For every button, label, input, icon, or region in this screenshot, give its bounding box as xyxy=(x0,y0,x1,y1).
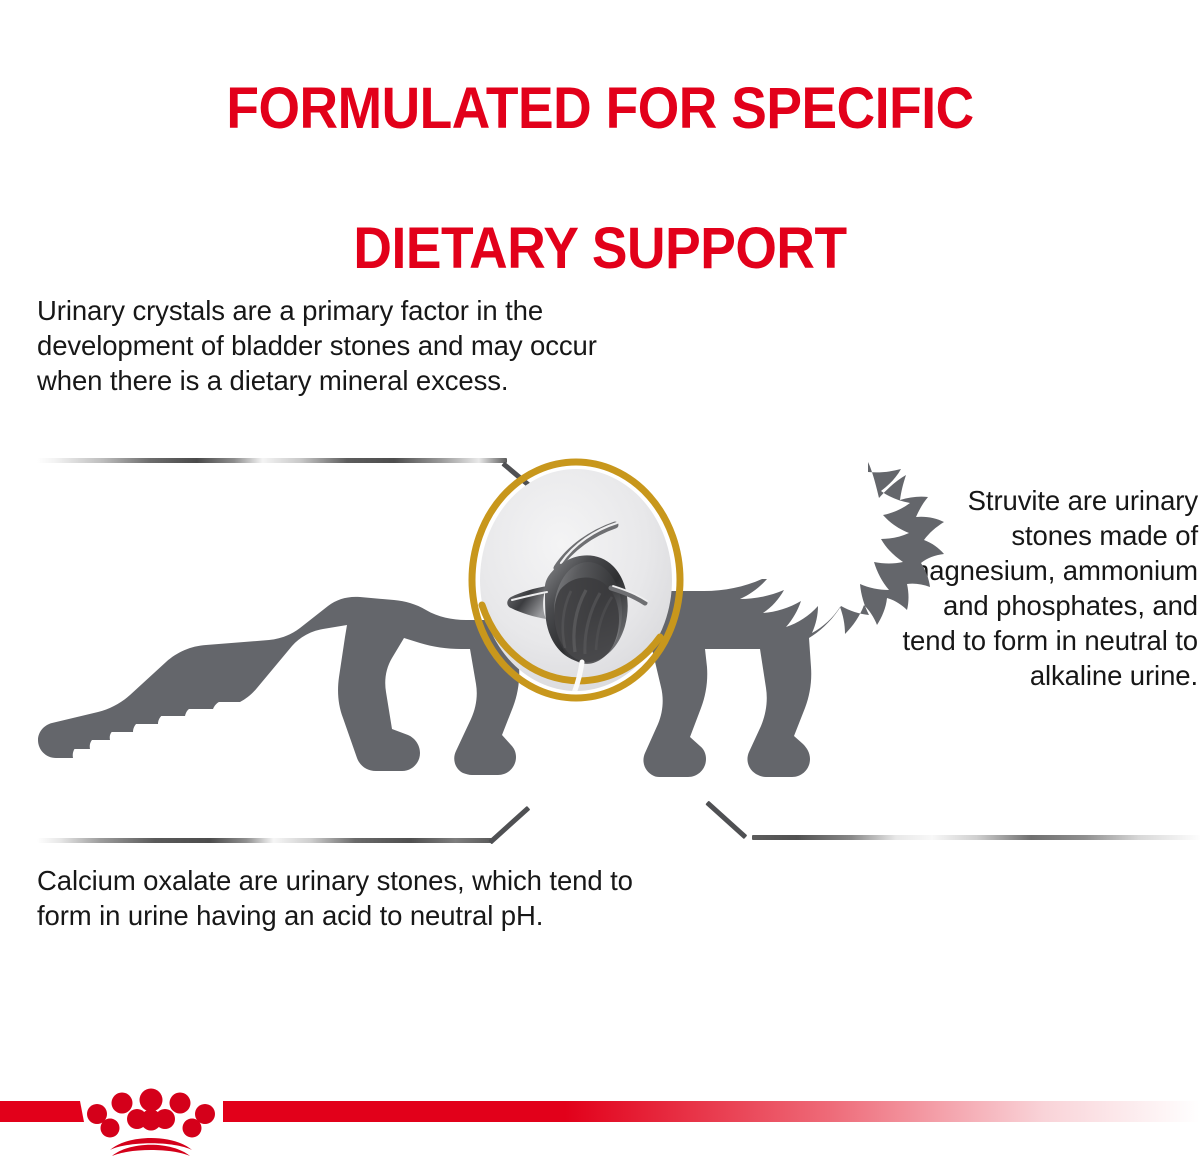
leader-line-oxalate-horizontal xyxy=(37,838,492,843)
leader-line-struvite-horizontal xyxy=(752,835,1200,840)
callout-calcium-oxalate: Calcium oxalate are urinary stones, whic… xyxy=(37,863,637,933)
page-title-line-2: DIETARY SUPPORT xyxy=(48,214,1152,284)
bladder-anatomy-inset-group xyxy=(472,462,680,702)
brand-bar-left xyxy=(0,1101,84,1122)
royal-canin-brand-bar xyxy=(0,1084,1200,1162)
callout-calcium-oxalate-text: Calcium oxalate are urinary stones, whic… xyxy=(37,863,637,933)
callout-urinary-crystals: Urinary crystals are a primary factor in… xyxy=(37,293,637,398)
callout-urinary-crystals-text: Urinary crystals are a primary factor in… xyxy=(37,293,637,398)
brand-bar-right xyxy=(223,1101,1200,1122)
royal-canin-crown-icon xyxy=(87,1089,215,1157)
page-title-line-1: FORMULATED FOR SPECIFIC xyxy=(48,74,1152,144)
illustration-cat-with-bladder-inset xyxy=(0,440,1200,820)
